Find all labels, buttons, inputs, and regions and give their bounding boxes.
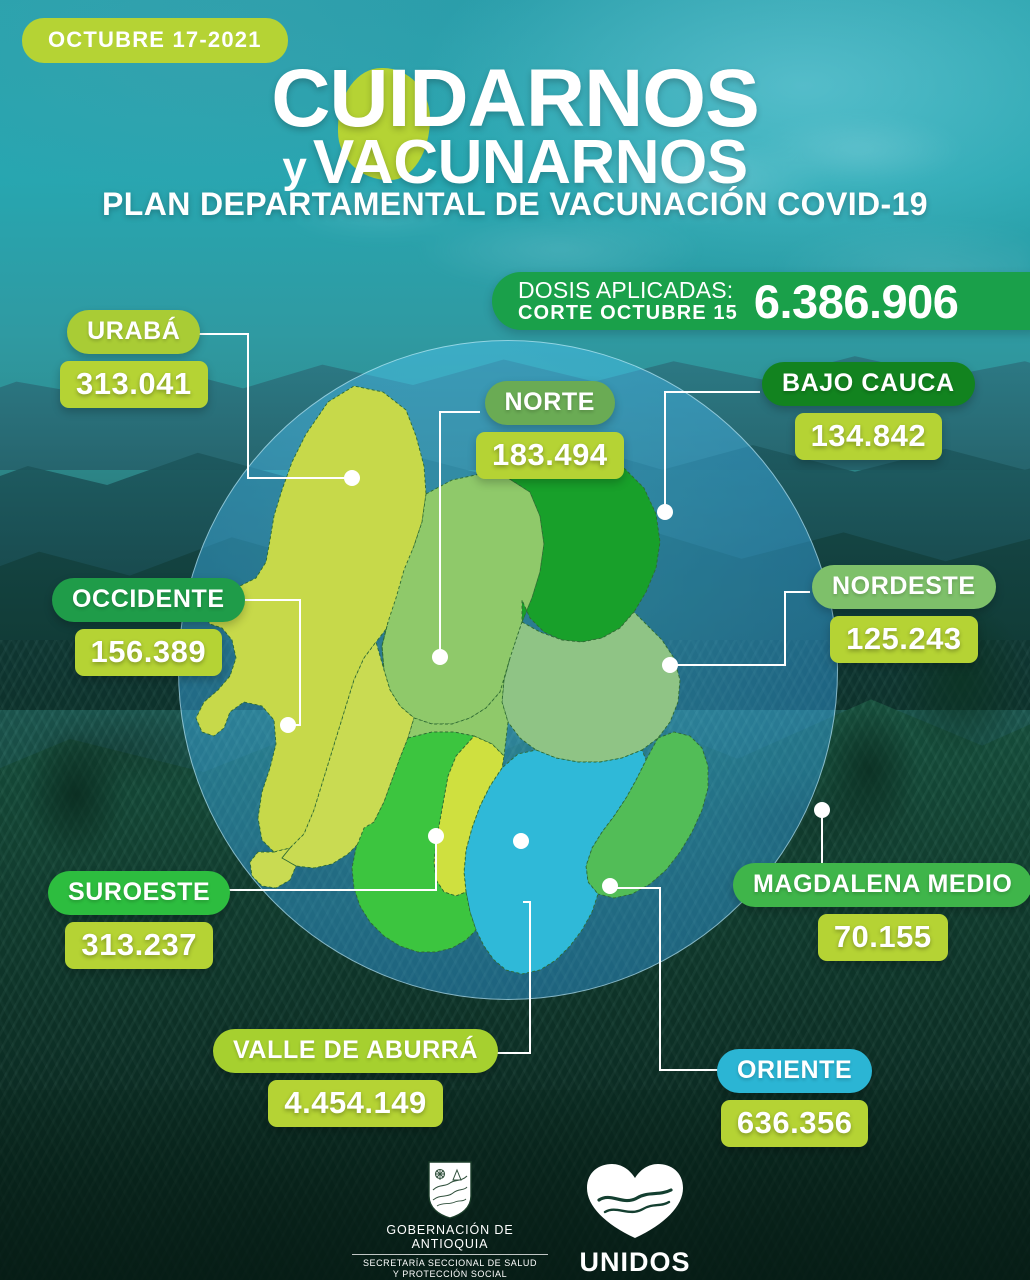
- doses-applied-labels: DOSIS APLICADAS: CORTE OCTUBRE 15: [518, 279, 738, 323]
- doses-cutoff-date: CORTE OCTUBRE 15: [518, 303, 738, 323]
- gobernacion-subtitle-line-1: SECRETARÍA SECCIONAL DE SALUD: [352, 1258, 548, 1269]
- region-label-magdalena-medio: MAGDALENA MEDIO 70.155: [733, 863, 1030, 961]
- region-label-nordeste: NORDESTE 125.243: [812, 565, 996, 663]
- region-label-oriente: ORIENTE 636.356: [717, 1049, 872, 1147]
- region-label-suroeste: SUROESTE 313.237: [48, 871, 230, 969]
- doses-applied-banner: DOSIS APLICADAS: CORTE OCTUBRE 15 6.386.…: [492, 272, 1030, 330]
- unidos-logo-block: UNIDOS: [560, 1162, 710, 1278]
- region-name-bajo-cauca[interactable]: BAJO CAUCA: [762, 362, 975, 406]
- doses-applied-total: 6.386.906: [754, 274, 959, 329]
- unidos-heart-icon: [583, 1162, 687, 1240]
- region-name-occidente[interactable]: OCCIDENTE: [52, 578, 245, 622]
- doses-applied-label: DOSIS APLICADAS:: [518, 279, 738, 302]
- region-value-occidente: 156.389: [75, 629, 223, 676]
- title-line-2-row: y VACUNARNOS: [0, 132, 1030, 194]
- region-value-uraba: 313.041: [60, 361, 208, 408]
- region-name-suroeste[interactable]: SUROESTE: [48, 871, 230, 915]
- region-name-norte[interactable]: NORTE: [485, 381, 616, 425]
- region-name-nordeste[interactable]: NORDESTE: [812, 565, 996, 609]
- region-value-oriente: 636.356: [721, 1100, 869, 1147]
- region-name-magdalena-medio[interactable]: MAGDALENA MEDIO: [733, 863, 1030, 907]
- gobernacion-divider: [352, 1254, 548, 1255]
- gobernacion-title: GOBERNACIÓN DE ANTIOQUIA: [352, 1223, 548, 1251]
- footer: GOBERNACIÓN DE ANTIOQUIA SECRETARÍA SECC…: [0, 1158, 1030, 1280]
- region-value-nordeste: 125.243: [830, 616, 978, 663]
- region-value-valle-de-aburra: 4.454.149: [268, 1080, 442, 1127]
- subtitle-bold-part: VACUNACIÓN COVID-19: [549, 186, 928, 222]
- gobernacion-subtitle-line-2: Y PROTECCIÓN SOCIAL: [352, 1269, 548, 1280]
- region-label-occidente: OCCIDENTE 156.389: [52, 578, 245, 676]
- region-name-oriente[interactable]: ORIENTE: [717, 1049, 872, 1093]
- title-line-2: VACUNARNOS: [313, 132, 748, 194]
- region-value-suroeste: 313.237: [65, 922, 213, 969]
- region-label-uraba: URABÁ 313.041: [60, 310, 208, 408]
- page-subtitle: PLAN DEPARTAMENTAL DE VACUNACIÓN COVID-1…: [0, 186, 1030, 223]
- region-label-valle-de-aburra: VALLE DE ABURRÁ 4.454.149: [213, 1029, 498, 1127]
- subtitle-normal-part: PLAN DEPARTAMENTAL DE: [102, 186, 549, 222]
- date-badge: OCTUBRE 17-2021: [22, 18, 288, 63]
- region-value-bajo-cauca: 134.842: [795, 413, 943, 460]
- title-block: CUIDARNOS y VACUNARNOS: [0, 60, 1030, 194]
- region-name-valle-de-aburra[interactable]: VALLE DE ABURRÁ: [213, 1029, 498, 1073]
- gobernacion-logo-block: GOBERNACIÓN DE ANTIOQUIA SECRETARÍA SECC…: [352, 1160, 548, 1280]
- title-line-1: CUIDARNOS: [0, 60, 1030, 138]
- infographic-canvas: OCTUBRE 17-2021 CUIDARNOS y VACUNARNOS P…: [0, 0, 1030, 1280]
- region-value-norte: 183.494: [476, 432, 624, 479]
- coat-of-arms-wrapper: [352, 1160, 548, 1220]
- region-name-uraba[interactable]: URABÁ: [67, 310, 200, 354]
- unidos-label: UNIDOS: [560, 1247, 710, 1278]
- region-label-bajo-cauca: BAJO CAUCA 134.842: [762, 362, 975, 460]
- background-tree-left: [0, 690, 150, 880]
- coat-of-arms-icon: [425, 1160, 475, 1220]
- region-label-norte: NORTE 183.494: [476, 381, 624, 479]
- region-value-magdalena-medio: 70.155: [818, 914, 948, 961]
